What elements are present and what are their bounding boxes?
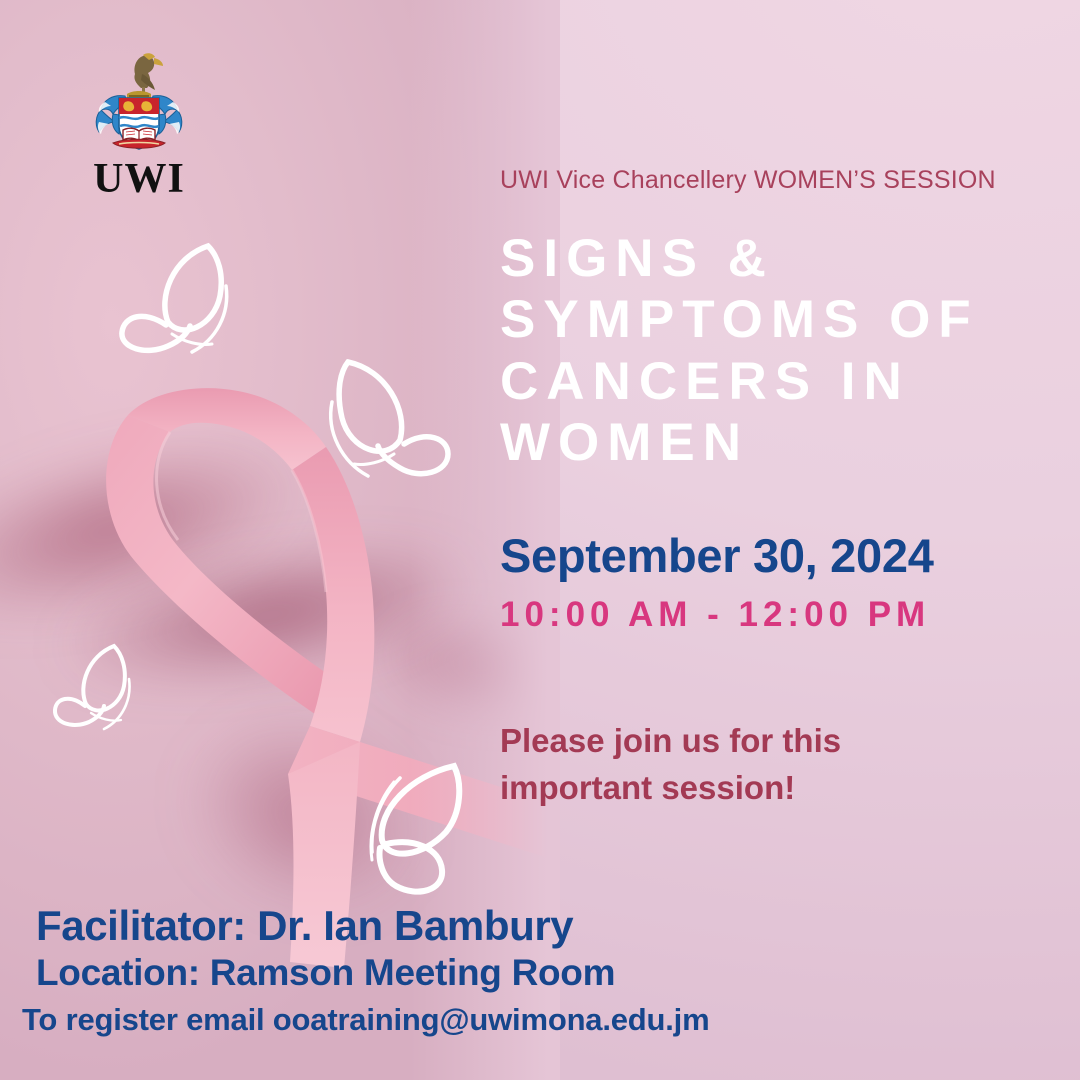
title-line: Women bbox=[500, 412, 1060, 473]
event-time: 10:00 AM - 12:00 PM bbox=[500, 595, 930, 635]
title-line: Symptoms of bbox=[500, 289, 1060, 350]
butterfly-icon bbox=[108, 222, 248, 362]
location-line: Location: Ramson Meeting Room bbox=[36, 952, 615, 994]
butterfly-icon bbox=[352, 752, 494, 900]
title-line: Signs & bbox=[500, 228, 1060, 289]
facilitator-line: Facilitator: Dr. Ian Bambury bbox=[36, 902, 573, 950]
session-kicker: UWI Vice Chancellery WOMEN’S SESSION bbox=[500, 166, 996, 195]
event-poster: UWI UWI Vice Chancellery WOMEN’S SESSION… bbox=[0, 0, 1080, 1080]
uwi-wordmark: UWI bbox=[74, 158, 204, 200]
registration-line: To register email ooatraining@uwimona.ed… bbox=[22, 1002, 709, 1038]
invitation-line: Please join us for this bbox=[500, 718, 920, 765]
uwi-coat-of-arms-icon bbox=[85, 44, 193, 156]
butterfly-icon bbox=[48, 634, 152, 738]
uwi-logo: UWI bbox=[74, 44, 204, 200]
butterfly-icon bbox=[316, 340, 456, 485]
event-date: September 30, 2024 bbox=[500, 528, 934, 583]
invitation-line: important session! bbox=[500, 765, 920, 812]
invitation-text: Please join us for this important sessio… bbox=[500, 718, 920, 812]
title-line: Cancers in bbox=[500, 351, 1060, 412]
page-title: Signs & Symptoms of Cancers in Women bbox=[500, 228, 1060, 474]
